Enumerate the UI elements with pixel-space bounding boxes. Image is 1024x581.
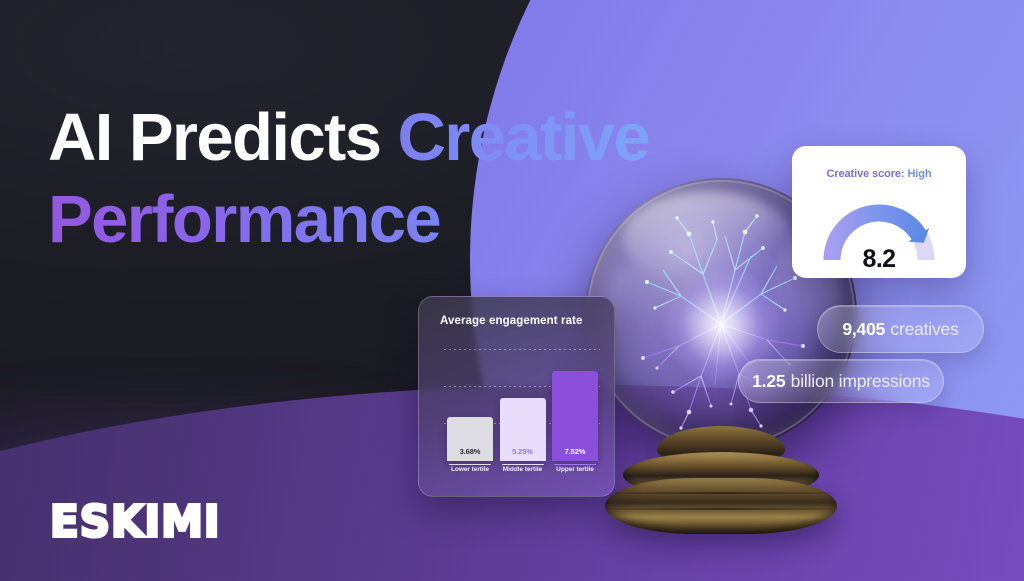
creative-score-card: Creative score: High 8.2	[792, 146, 966, 278]
eskimi-logo: ESKIMI	[50, 496, 221, 547]
base-groove	[611, 492, 831, 494]
crystal-ball-base	[605, 426, 837, 534]
bar-value-label: 3.68%	[460, 447, 481, 461]
bar-baseline-tick	[449, 464, 491, 466]
x-axis-label: Upper tertile	[552, 466, 598, 480]
chart-bars: 3.68% 5.25% 7.52%	[447, 353, 598, 461]
bar-baseline-tick	[502, 464, 544, 466]
promo-banner: AI Predicts Creative Performance Average…	[0, 0, 1024, 581]
base-plinth	[605, 478, 837, 534]
stat-number-impressions: 1.25	[752, 371, 785, 392]
creative-score-label: Creative score:	[826, 168, 904, 180]
bar-column: 5.25%	[500, 398, 546, 461]
headline-line-2: Performance	[48, 179, 828, 261]
headline-accent-creative: Creative	[397, 100, 649, 175]
chart-plot-area: 3.68% 5.25% 7.52% Lo	[437, 341, 602, 486]
creative-score-level: High	[907, 168, 931, 180]
x-axis-label: Middle tertile	[500, 466, 546, 480]
bar-column: 7.52%	[552, 371, 598, 461]
bar-baseline-tick	[554, 464, 596, 466]
headline-accent-performance: Performance	[48, 182, 440, 257]
stat-unit-impressions: billion impressions	[791, 371, 930, 392]
stat-pill-impressions: 1.25 billion impressions	[738, 359, 944, 403]
chart-title: Average engagement rate	[440, 315, 582, 327]
stat-number-creatives: 9,405	[842, 319, 885, 340]
bar-value-label: 5.25%	[512, 447, 533, 461]
chart-gridline	[444, 349, 600, 350]
chart-x-axis-labels: Lower tertile Middle tertile Upper terti…	[447, 466, 598, 480]
stat-unit-creatives: creatives	[890, 319, 958, 340]
engagement-chart-card: Average engagement rate 3.68% 5.25%	[418, 296, 615, 497]
headline-white-text: AI Predicts	[48, 100, 397, 175]
stat-pill-creatives: 9,405 creatives	[817, 305, 984, 353]
bar-value-label: 7.52%	[565, 447, 586, 461]
page-title: AI Predicts Creative Performance	[48, 97, 828, 260]
creative-score-heading: Creative score: High	[792, 168, 966, 180]
base-groove	[611, 508, 831, 510]
bar-lower-tertile: 3.68%	[447, 417, 493, 461]
bar-column: 3.68%	[447, 417, 493, 461]
bar-upper-tertile: 7.52%	[552, 371, 598, 461]
creative-score-value: 8.2	[792, 245, 966, 274]
headline-line-1: AI Predicts Creative	[48, 97, 828, 179]
x-axis-label: Lower tertile	[447, 466, 493, 480]
bar-middle-tertile: 5.25%	[500, 398, 546, 461]
